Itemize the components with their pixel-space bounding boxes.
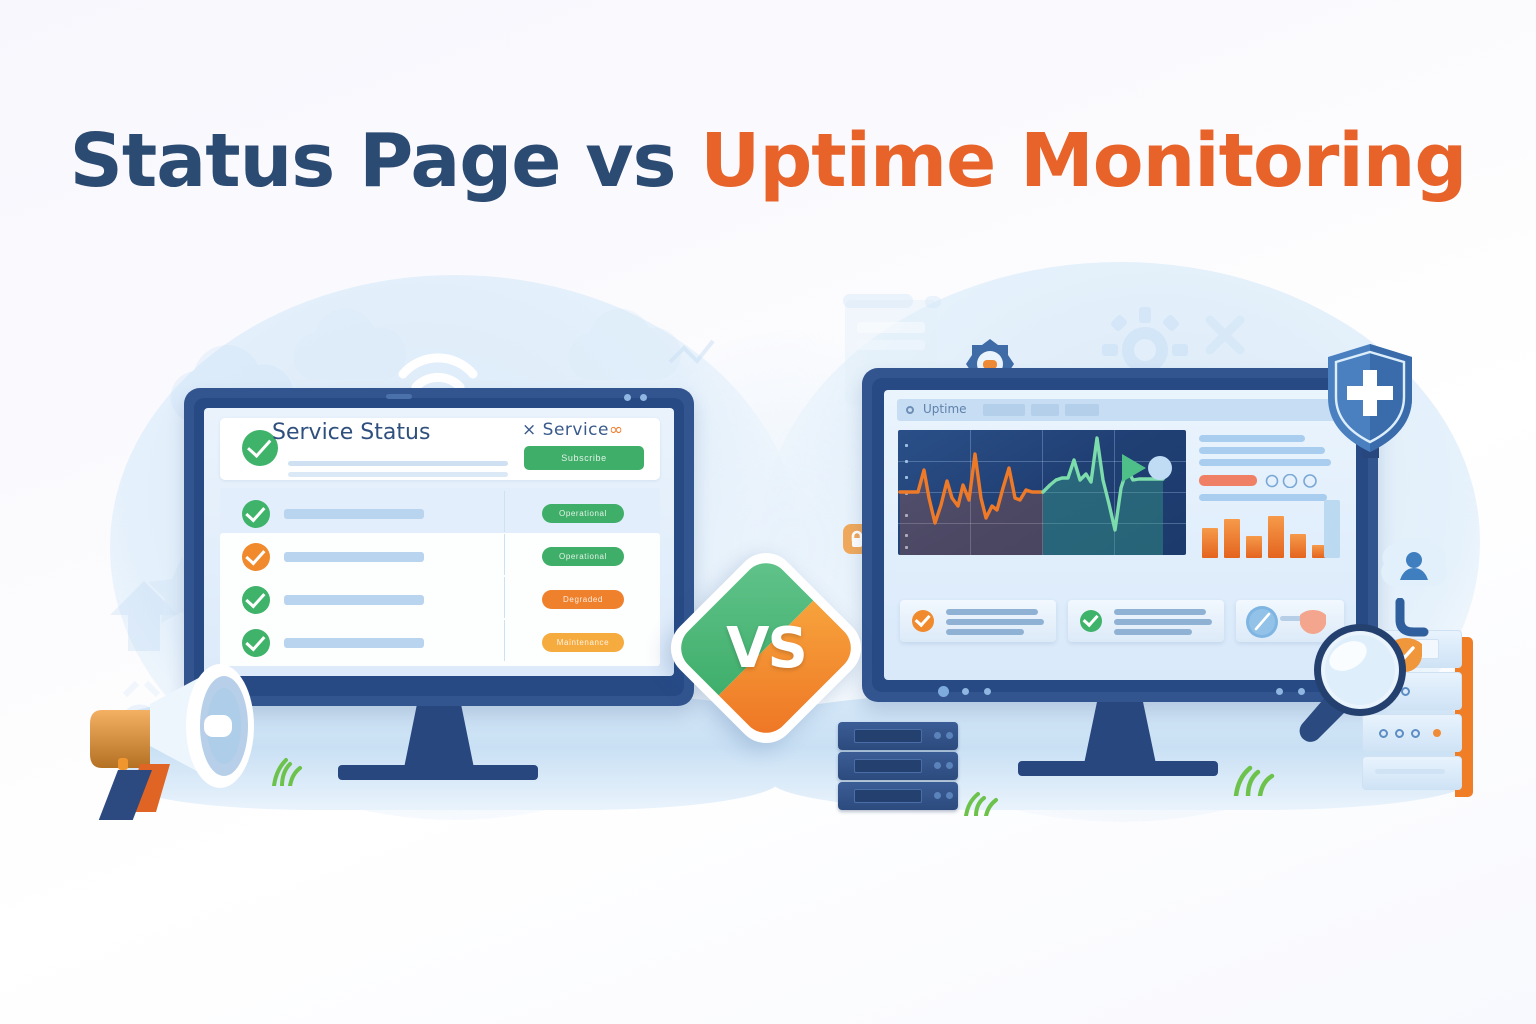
placeholder-line [1199,494,1327,501]
webcam-dot [640,394,647,401]
placeholder-line [1199,459,1331,466]
bar [1246,536,1262,558]
magnifier-icon [1288,612,1418,744]
decor-grass-icon [1228,762,1278,796]
column-divider [504,577,505,618]
megaphone-icon [62,630,322,820]
uptime-line-chart [898,430,1186,555]
topbar-label: Uptime [923,402,967,416]
decor-grass-icon [960,788,1006,816]
chin-dot [1276,688,1283,695]
status-badge: Degraded [542,590,624,609]
check-icon [242,586,270,614]
decor-document-line [857,340,925,350]
check-icon [912,610,934,632]
chin-dot [962,688,969,695]
placeholder-line [284,509,424,519]
bar [1268,516,1284,558]
bar [1202,528,1218,558]
gauge-icon [1244,604,1280,640]
illustration-canvas: Status Page vs Uptime Monitoring [0,0,1536,1024]
bar [1224,519,1240,558]
topbar-segment [983,404,1025,416]
decor-pill [843,294,913,308]
decor-grass-icon [268,756,308,786]
check-icon [242,500,270,528]
status-badge: Maintenance [542,633,624,652]
list-item[interactable] [1068,600,1224,642]
metric-dots-icon [1264,474,1326,488]
title-part-accent: Uptime Monitoring [700,118,1466,204]
alert-pill [1199,475,1257,486]
subscribe-button[interactable]: Subscribe [524,446,644,470]
status-badge: Operational [542,547,624,566]
title-part-primary: Status Page vs [70,118,701,204]
chart-series-svg [898,430,1186,555]
column-divider [504,534,505,575]
placeholder-line [284,595,424,605]
user-badge-icon [1376,538,1452,604]
decor-document-line [857,322,925,333]
placeholder-line [1199,435,1305,442]
monitor-foot-left [338,765,538,780]
topbar-segment [1031,404,1059,416]
uptime-bar-chart [1200,510,1330,558]
page-title: Status Page vs Uptime Monitoring [0,118,1536,204]
check-icon [242,543,270,571]
placeholder-line [1199,447,1325,454]
brand-logo: × Service∞ [522,420,624,440]
brand-prefix: × [522,420,537,440]
server-rack-icon [838,782,958,810]
placeholder-line [288,472,508,477]
uptime-dashboard-screen: Uptime [884,390,1356,680]
monitor-foot-right [1018,761,1218,776]
column-divider [504,620,505,661]
placeholder-line [288,461,508,466]
rack-unit [1362,756,1462,790]
brand-suffix: ∞ [609,420,624,440]
shield-plus-icon [1322,340,1418,458]
vs-label: VS [690,572,842,724]
status-page-title: Service Status [272,420,430,445]
chin-dot [984,688,991,695]
column-divider [504,491,505,532]
dashboard-topbar: Uptime [897,399,1343,421]
brand-text: Service [543,420,609,440]
bar [1290,534,1306,558]
decor-cross-icon [1200,310,1250,360]
status-badge: Operational [542,504,624,523]
webcam-bar [386,394,412,399]
bar [1324,500,1340,558]
topbar-segment [1065,404,1099,416]
decor-pill [925,296,941,308]
status-indicator-icon [906,406,914,414]
list-item[interactable] [900,600,1056,642]
power-led [938,686,949,697]
placeholder-line [284,552,424,562]
check-icon [1080,610,1102,632]
webcam-dot [624,394,631,401]
server-rack-icon [838,752,958,780]
server-rack-icon [838,722,958,750]
